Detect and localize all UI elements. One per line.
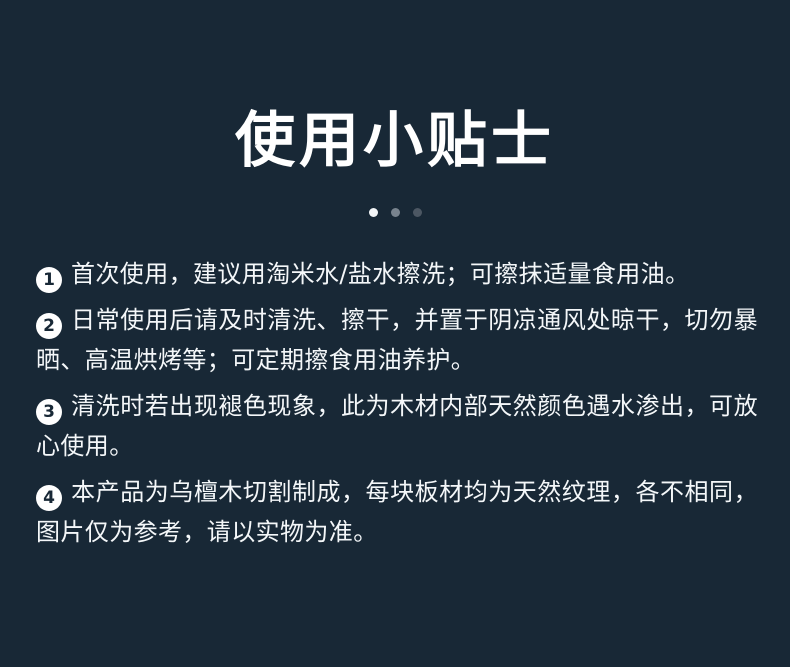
- tip-item-2: 2日常使用后请及时清洗、擦干，并置于阴凉通风处晾干，切勿暴晒、高温烘烤等；可定期…: [36, 300, 758, 380]
- title-block: 使用小贴士: [0, 104, 790, 178]
- carousel-dot-3[interactable]: [413, 208, 422, 217]
- tip-item-4: 4本产品为乌檀木切割制成，每块板材均为天然纹理，各不相同，图片仅为参考，请以实物…: [36, 472, 758, 552]
- carousel-dot-1[interactable]: [369, 208, 378, 217]
- tip-number-badge-2: 2: [36, 313, 62, 339]
- tip-text-4: 本产品为乌檀木切割制成，每块板材均为天然纹理，各不相同，图片仅为参考，请以实物为…: [36, 478, 758, 546]
- tip-number-badge-3: 3: [36, 399, 62, 425]
- page-title: 使用小贴士: [0, 104, 790, 178]
- carousel-dot-2[interactable]: [391, 208, 400, 217]
- tip-item-3: 3清洗时若出现褪色现象，此为木材内部天然颜色遇水渗出，可放心使用。: [36, 386, 758, 466]
- carousel-dots: [0, 208, 790, 217]
- tips-list: 1首次使用，建议用淘米水/盐水擦洗；可擦抹适量食用油。 2日常使用后请及时清洗、…: [36, 254, 758, 558]
- tips-page: 使用小贴士 1首次使用，建议用淘米水/盐水擦洗；可擦抹适量食用油。 2日常使用后…: [0, 0, 790, 667]
- tip-text-2: 日常使用后请及时清洗、擦干，并置于阴凉通风处晾干，切勿暴晒、高温烘烤等；可定期擦…: [36, 306, 758, 374]
- tip-number-badge-4: 4: [36, 485, 62, 511]
- tip-text-1: 首次使用，建议用淘米水/盐水擦洗；可擦抹适量食用油。: [71, 260, 689, 288]
- tip-number-badge-1: 1: [36, 267, 62, 293]
- tip-item-1: 1首次使用，建议用淘米水/盐水擦洗；可擦抹适量食用油。: [36, 254, 758, 294]
- tip-text-3: 清洗时若出现褪色现象，此为木材内部天然颜色遇水渗出，可放心使用。: [36, 392, 758, 460]
